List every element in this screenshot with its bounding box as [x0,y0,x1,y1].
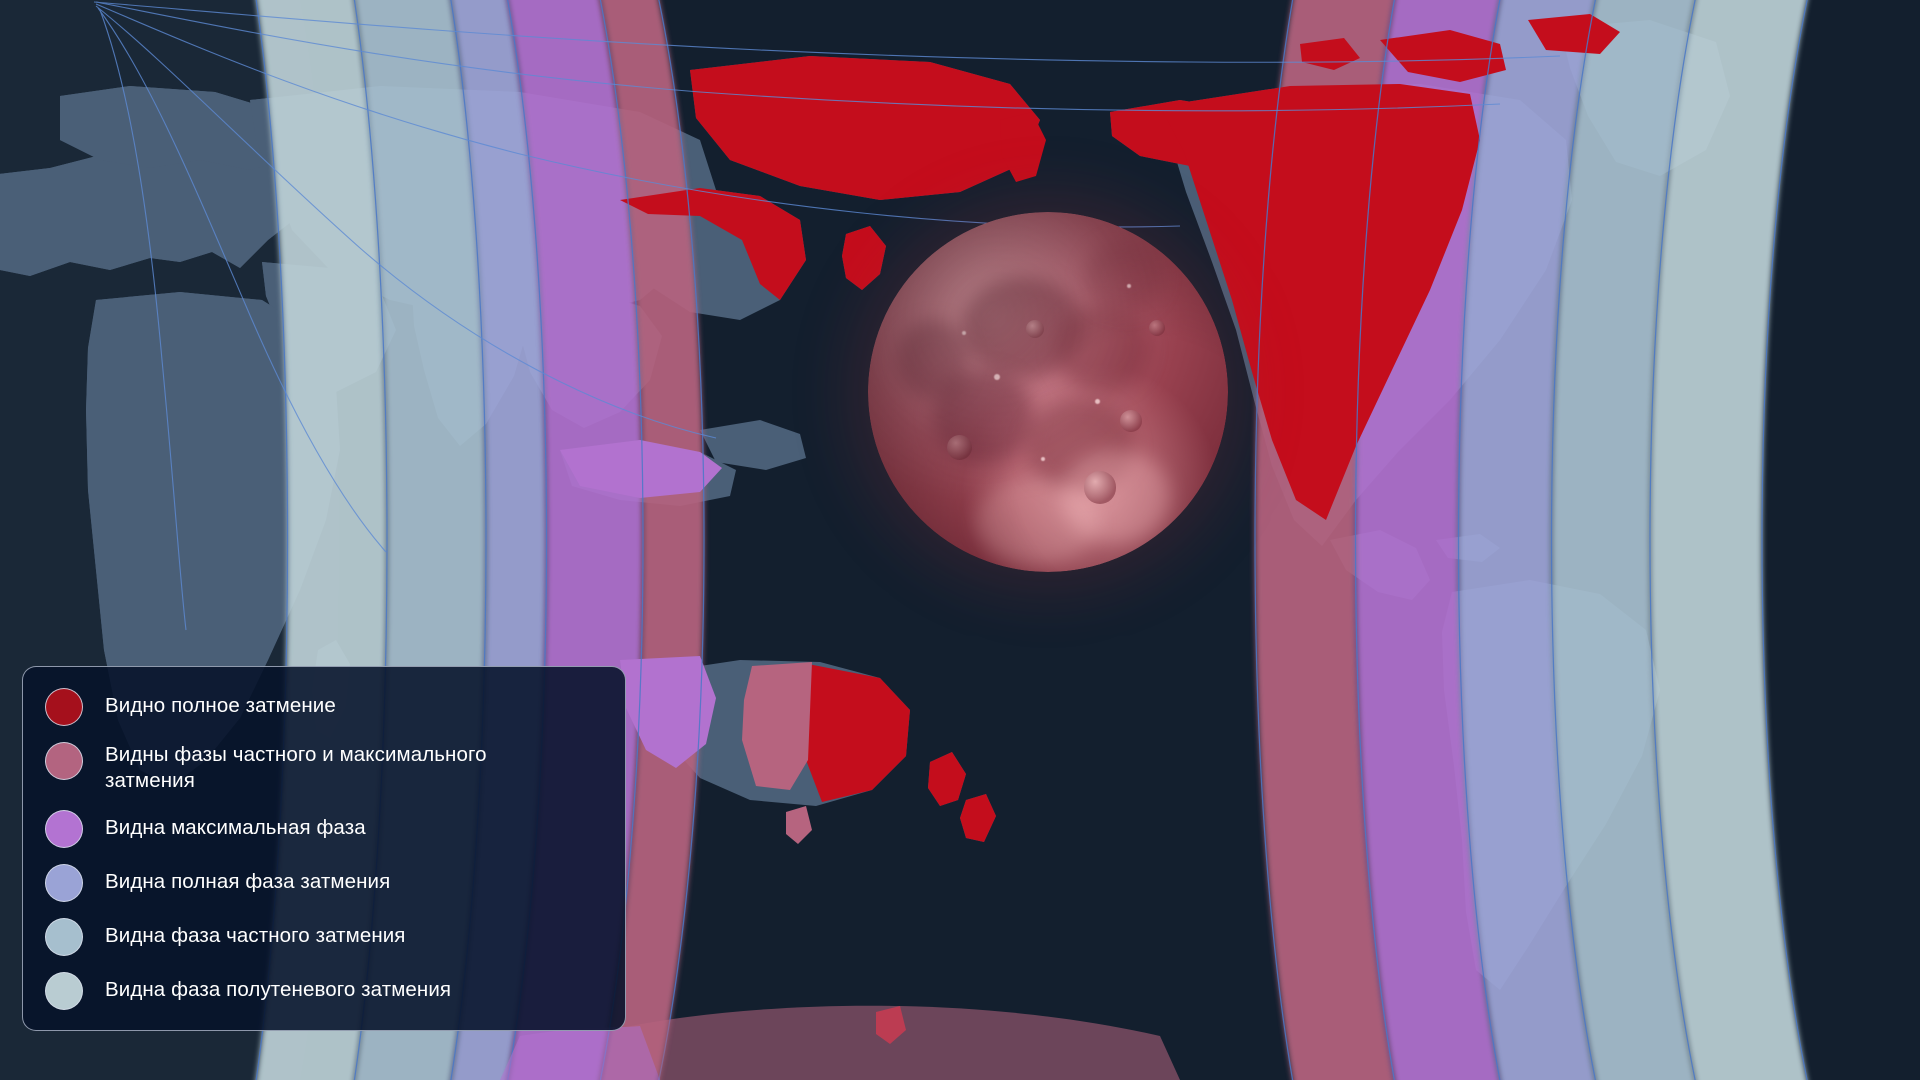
legend-item-partial-max[interactable]: Видны фазы частного и максимального затм… [45,741,603,794]
legend-item-max-phase[interactable]: Видна максимальная фаза [45,809,603,848]
legend-label-penumbral-phase: Видна фаза полутеневого затмения [105,971,451,1003]
legend-swatch-max-phase [45,810,83,848]
blood-moon [868,212,1228,572]
legend-item-total[interactable]: Видно полное затмение [45,687,603,726]
legend-label-partial-phase: Видна фаза частного затмения [105,917,406,949]
legend-item-penumbral-phase[interactable]: Видна фаза полутеневого затмения [45,971,603,1010]
legend-swatch-total [45,688,83,726]
legend-label-total: Видно полное затмение [105,687,336,719]
legend-item-partial-phase[interactable]: Видна фаза частного затмения [45,917,603,956]
legend-item-total-phase[interactable]: Видна полная фаза затмения [45,863,603,902]
legend-panel: Видно полное затмение Видны фазы частног… [22,666,626,1031]
legend-label-max-phase: Видна максимальная фаза [105,809,366,841]
eclipse-map-stage: Видно полное затмение Видны фазы частног… [0,0,1920,1080]
legend-swatch-partial-max [45,742,83,780]
legend-label-partial-max: Видны фазы частного и максимального затм… [105,741,487,794]
legend-swatch-partial-phase [45,918,83,956]
legend-swatch-penumbral-phase [45,972,83,1010]
legend-swatch-total-phase [45,864,83,902]
legend-label-total-phase: Видна полная фаза затмения [105,863,390,895]
